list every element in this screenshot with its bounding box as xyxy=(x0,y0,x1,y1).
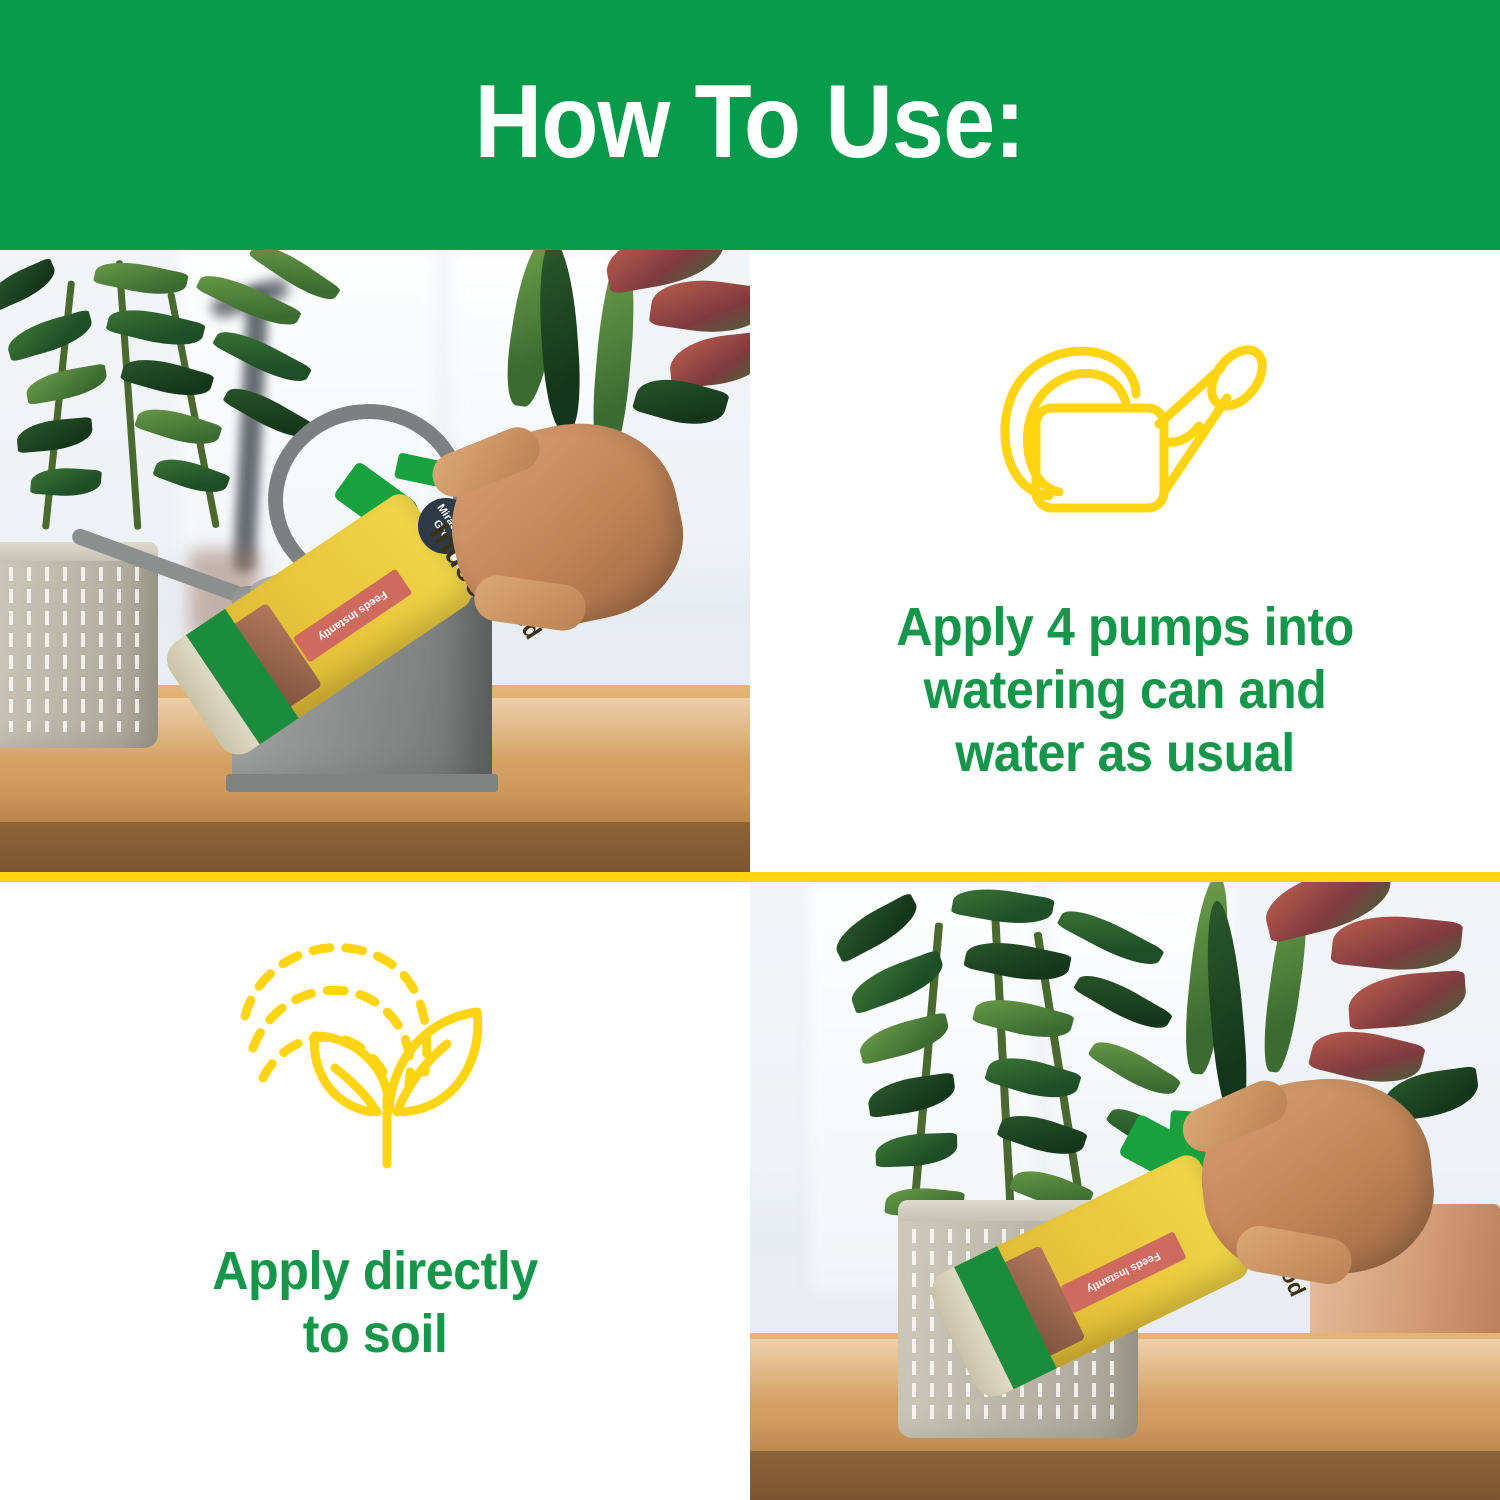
product-claim-tab: Feeds Instantly xyxy=(293,568,413,662)
sprout-spray-icon xyxy=(225,932,525,1192)
page-title: How To Use: xyxy=(475,70,1025,174)
panel-top-right-instruction: Apply 4 pumps into watering can and wate… xyxy=(750,250,1500,872)
photo-spray-to-soil-scene: Feeds Instantly Miracle-Gro Indoor Plant… xyxy=(750,882,1500,1500)
top-right-caption: Apply 4 pumps into watering can and wate… xyxy=(896,596,1354,786)
watering-can-base xyxy=(226,774,498,792)
photo-watering-can-scene: Feeds Instantly Miracle-Gro Indoor Plant… xyxy=(0,250,750,872)
product-claim-text-2: Feeds Instantly xyxy=(1085,1249,1162,1295)
bottom-left-caption: Apply directly to soil xyxy=(212,1240,538,1366)
panel-bottom-left-instruction: Apply directly to soil xyxy=(0,882,750,1500)
ceramic-planter-pot xyxy=(0,542,158,748)
panel-bottom-right-photo: Feeds Instantly Miracle-Gro Indoor Plant… xyxy=(750,882,1500,1500)
horizontal-divider xyxy=(0,872,1500,882)
watering-can-icon xyxy=(975,320,1275,520)
how-to-use-infographic: How To Use: xyxy=(0,0,1500,1500)
header-banner: How To Use: xyxy=(0,0,1500,250)
panel-top-left-photo: Feeds Instantly Miracle-Gro Indoor Plant… xyxy=(0,250,750,872)
product-claim-tab-2: Feeds Instantly xyxy=(1060,1231,1186,1313)
pot-dash-pattern xyxy=(0,567,147,732)
counter-edge-2 xyxy=(750,1451,1500,1500)
panel-grid: Feeds Instantly Miracle-Gro Indoor Plant… xyxy=(0,250,1500,1500)
counter-edge xyxy=(0,822,750,872)
product-claim-text: Feeds Instantly xyxy=(316,588,389,643)
